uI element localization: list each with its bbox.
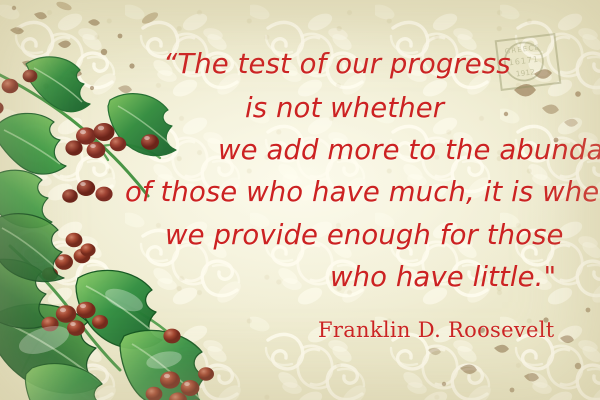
- edge-vignette: [0, 0, 600, 400]
- quote-line-4: of those who have much, it is whether: [125, 176, 600, 208]
- quote-line-1: “The test of our progress: [163, 48, 511, 80]
- quote-line-3: we add more to the abundance: [218, 134, 600, 166]
- damask-pattern: [0, 0, 600, 400]
- paper-grain-texture: [0, 0, 600, 400]
- postmark-line1: GREECE: [504, 43, 540, 55]
- speckles-top-right: [490, 60, 600, 150]
- postmark-stamp: GREECE 16171 1912: [494, 32, 562, 91]
- quote-line-5: we provide enough for those: [165, 219, 564, 251]
- holly-accent-mid-left: [0, 200, 110, 290]
- quote-line-6: who have little.": [330, 261, 556, 293]
- quote-attribution: Franklin D. Roosevelt: [318, 318, 555, 342]
- postmark-line3: 1912: [515, 67, 535, 78]
- quote-line-2: is not whether: [245, 92, 444, 124]
- quote-text-block: “The test of our progress is not whether…: [0, 0, 600, 400]
- speckles-top-left: [0, 0, 170, 110]
- holly-sprig-left-upper: [0, 48, 212, 238]
- postmark-line2: 16171: [508, 55, 539, 68]
- speckles-bottom-right: [420, 290, 600, 400]
- quote-card: GREECE 16171 1912: [0, 0, 600, 400]
- holly-cluster-bottom-left: [0, 240, 249, 400]
